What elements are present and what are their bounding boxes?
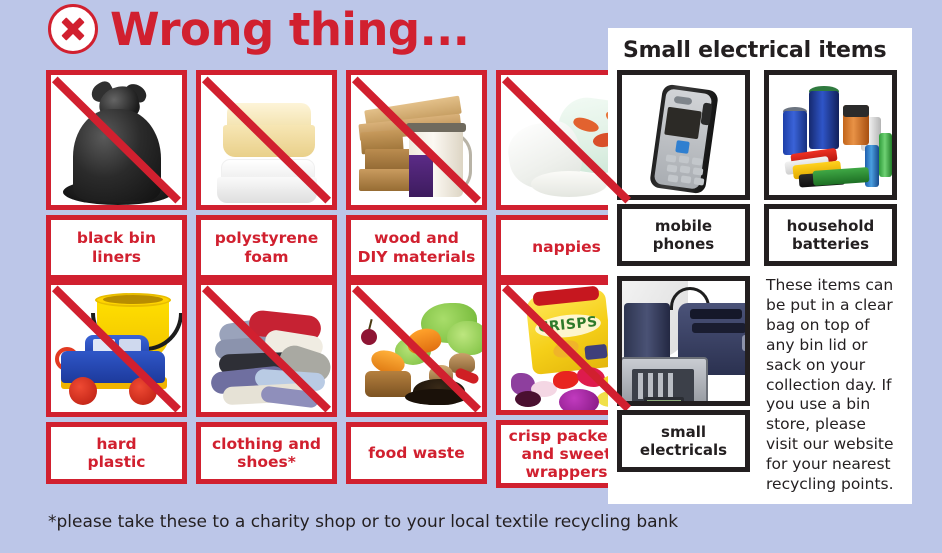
food-waste-photo [346,280,487,417]
photo-art [769,75,892,195]
small-electricals-photo [617,276,750,406]
wrong-item-label: nappies [532,238,601,256]
wrong-item-caption: wood andDIY materials [346,215,487,280]
electrical-item-caption: householdbatteries [764,204,897,266]
wrong-item-card[interactable]: hardplastic [46,280,187,488]
electrical-item-card[interactable]: mobilephones [617,70,750,266]
wrong-item-label: clothing andshoes* [212,435,321,472]
electrical-item-card[interactable]: householdbatteries [764,70,897,266]
wrong-item-card[interactable]: polystyrenefoam [196,70,337,280]
electrical-item-label: householdbatteries [787,217,875,253]
electrical-item-label: smallelectricals [640,423,727,459]
wrong-item-caption: clothing andshoes* [196,422,337,484]
wrong-item-caption: black binliners [46,215,187,280]
black-bin-liner-photo [46,70,187,210]
page-header: Wrong thing... [48,4,469,54]
wrong-item-card[interactable]: clothing andshoes* [196,280,337,488]
wrong-item-label: black binliners [77,229,156,266]
wrong-item-caption: polystyrenefoam [196,215,337,280]
panel-title: Small electrical items [623,38,903,63]
wrong-item-card[interactable]: black binliners [46,70,187,280]
electrical-item-caption: smallelectricals [617,410,750,472]
batteries-photo [764,70,897,200]
mobile-phone-photo [617,70,750,200]
photo-art [622,75,745,195]
electrical-item-caption: mobilephones [617,204,750,266]
wrong-items-grid: black binliners polystyrenefoam [46,70,637,488]
electrical-item-label: mobilephones [653,217,715,253]
wrong-item-label: wood andDIY materials [358,229,476,266]
footnote: *please take these to a charity shop or … [48,512,678,532]
wrong-item-caption: food waste [346,422,487,484]
electrical-item-card[interactable]: smallelectricals [617,276,750,495]
wrong-item-label: food waste [368,444,464,462]
polystyrene-foam-photo [196,70,337,210]
wood-diy-photo [346,70,487,210]
page-title: Wrong thing... [110,7,469,52]
cross-circle-icon [48,4,98,54]
panel-note: These items can be put in a clear bag on… [764,276,897,495]
photo-art [622,281,745,401]
panel-grid: mobilephones householdbatteries [617,70,903,495]
wrong-item-card[interactable]: food waste [346,280,487,488]
small-electrical-items-panel: Small electrical items [608,28,912,504]
wrong-item-label: hardplastic [87,435,145,472]
wrong-item-label: polystyrenefoam [215,229,319,266]
wrong-item-label: crisp packetsand sweetwrappers [509,427,625,482]
hard-plastic-photo [46,280,187,417]
wrong-item-card[interactable]: wood andDIY materials [346,70,487,280]
clothing-shoes-photo [196,280,337,417]
wrong-item-caption: hardplastic [46,422,187,484]
